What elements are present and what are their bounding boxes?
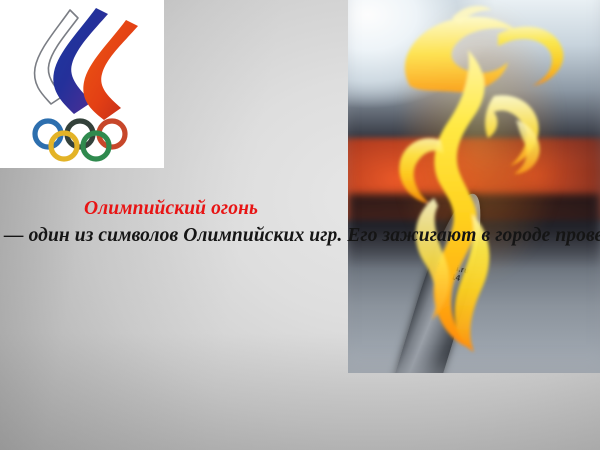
olympic-torch-flame-photo: sochi.ru 2014 [348, 0, 600, 373]
logo-panel [0, 0, 164, 168]
flame-shape [348, 0, 600, 373]
russian-olympic-committee-logo [22, 4, 152, 166]
caption-body: — один из символов Олимпийских игр. Его … [4, 225, 600, 246]
presentation-slide: sochi.ru 2014 [0, 0, 600, 450]
caption-text: Олимпийский огонь — один из символов Оли… [4, 196, 338, 249]
olympic-rings [35, 121, 125, 159]
caption-term: Олимпийский огонь [84, 198, 258, 219]
logo-flame-red [83, 20, 138, 120]
